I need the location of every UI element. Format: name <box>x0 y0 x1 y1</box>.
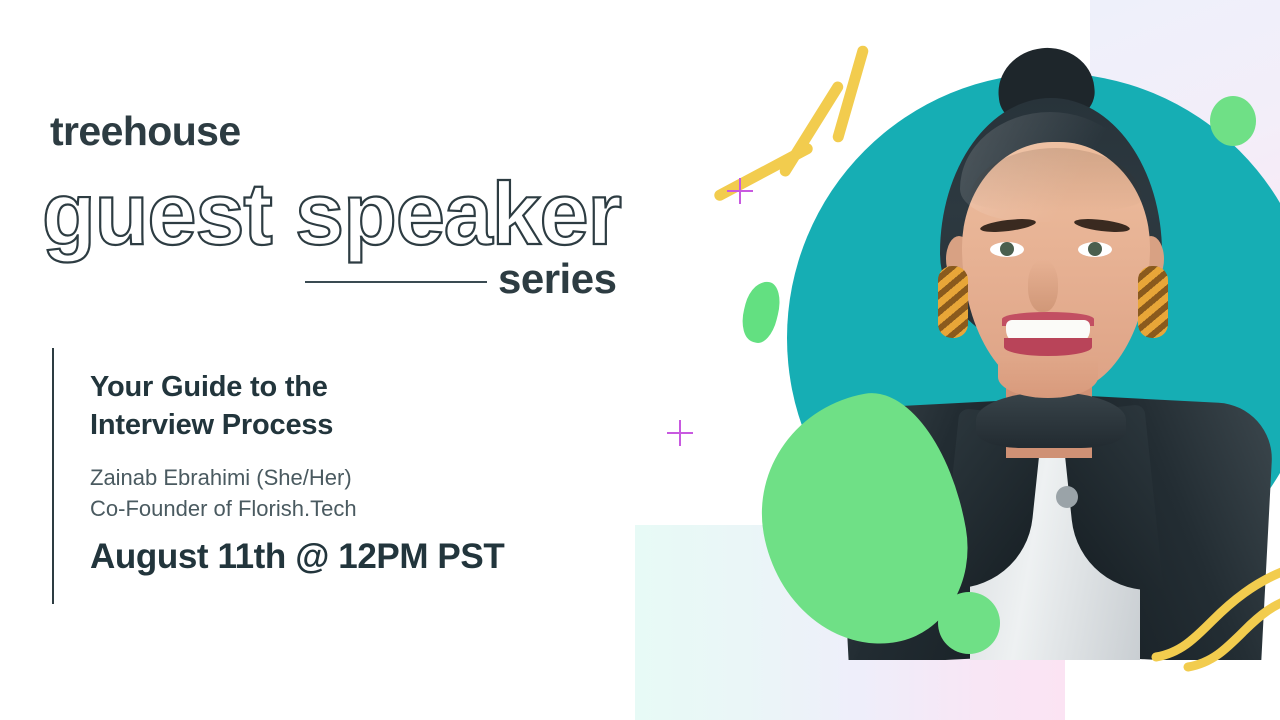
headline-outline-text: guest speaker <box>42 160 662 270</box>
speaker-role: Co-Founder of Florish.Tech <box>90 493 357 524</box>
jacket-snap-button <box>1056 486 1078 508</box>
vertical-accent-bar <box>52 348 54 604</box>
speaker-name: Zainab Ebrahimi (She/Her) <box>90 462 357 493</box>
brand-wordmark: treehouse <box>50 108 241 155</box>
chin <box>998 356 1098 398</box>
series-divider-rule <box>305 281 487 283</box>
earring-left <box>938 266 968 338</box>
jacket-collar <box>976 392 1126 448</box>
iris-right <box>1088 242 1102 256</box>
yellow-squiggle-icon <box>1150 565 1280 675</box>
plus-mark-icon <box>667 420 693 446</box>
nose <box>1028 260 1058 312</box>
lower-lip <box>1004 338 1092 356</box>
event-datetime: August 11th @ 12PM PST <box>90 537 504 577</box>
green-blob-small-decoration <box>737 278 785 346</box>
series-label: series <box>498 255 616 303</box>
talk-title-line-1: Your Guide to the <box>90 368 520 406</box>
green-circle-decoration <box>938 592 1000 654</box>
talk-title: Your Guide to the Interview Process <box>90 368 520 445</box>
earring-right <box>1138 266 1168 338</box>
plus-mark-icon <box>727 178 753 204</box>
speaker-info: Zainab Ebrahimi (She/Her) Co-Founder of … <box>90 462 357 524</box>
talk-title-line-2: Interview Process <box>90 406 520 444</box>
svg-text:guest speaker: guest speaker <box>42 164 621 263</box>
promo-slide: treehouse guest speaker series Your Guid… <box>0 0 1280 720</box>
iris-left <box>1000 242 1014 256</box>
